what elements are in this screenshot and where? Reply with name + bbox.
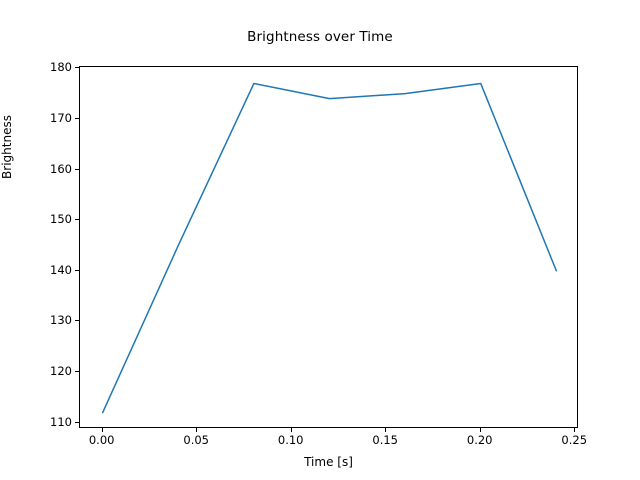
x-axis-label: Time [s] [79, 455, 578, 469]
x-tick-mark [385, 428, 386, 432]
y-tick-mark [75, 422, 79, 423]
brightness-line [103, 83, 557, 412]
y-tick-label: 180 [28, 60, 72, 74]
data-line-svg [80, 67, 579, 429]
y-tick-label: 170 [28, 111, 72, 125]
y-tick-mark [75, 320, 79, 321]
y-tick-label: 160 [28, 162, 72, 176]
x-tick-mark [480, 428, 481, 432]
x-tick-mark [102, 428, 103, 432]
y-tick-label: 110 [28, 415, 72, 429]
x-tick-label: 0.15 [355, 433, 415, 447]
y-tick-mark [75, 67, 79, 68]
x-tick-label: 0.10 [261, 433, 321, 447]
y-tick-label: 140 [28, 263, 72, 277]
y-tick-mark [75, 219, 79, 220]
matplotlib-figure: Brightness over Time 1101201301401501601… [0, 0, 640, 480]
y-tick-label: 130 [28, 313, 72, 327]
y-tick-mark [75, 371, 79, 372]
x-tick-label: 0.00 [72, 433, 132, 447]
plot-axes [79, 66, 578, 428]
x-tick-mark [196, 428, 197, 432]
y-tick-mark [75, 118, 79, 119]
y-tick-label: 150 [28, 212, 72, 226]
x-tick-mark [574, 428, 575, 432]
y-tick-mark [75, 169, 79, 170]
y-tick-label: 120 [28, 364, 72, 378]
y-axis-label: Brightness [0, 47, 14, 247]
chart-title: Brightness over Time [0, 29, 640, 45]
x-tick-mark [291, 428, 292, 432]
y-tick-mark [75, 270, 79, 271]
x-tick-label: 0.05 [166, 433, 226, 447]
x-tick-label: 0.25 [544, 433, 604, 447]
x-tick-label: 0.20 [450, 433, 510, 447]
